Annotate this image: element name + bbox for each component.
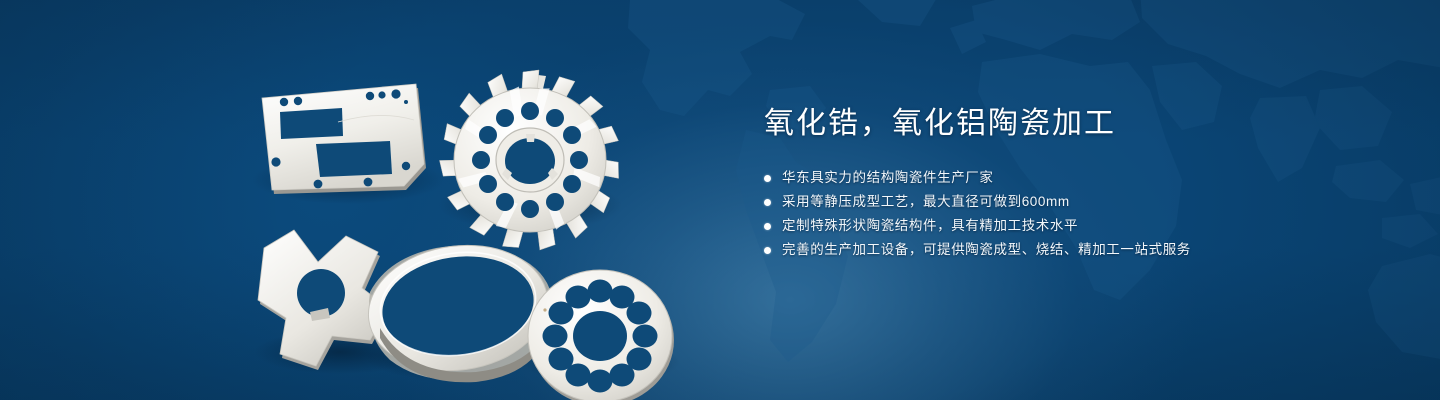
list-item: 定制特殊形状陶瓷结构件，具有精加工技术水平 [764, 214, 1404, 238]
product-photo-collage [230, 40, 700, 380]
list-item-label: 完善的生产加工设备，可提供陶瓷成型、烧结、精加工一站式服务 [782, 238, 1191, 262]
list-item: 完善的生产加工设备，可提供陶瓷成型、烧结、精加工一站式服务 [764, 238, 1404, 262]
banner-copy: 氧化锆，氧化铝陶瓷加工 华东具实力的结构陶瓷件生产厂家 采用等静压成型工艺，最大… [764, 104, 1404, 262]
page-title: 氧化锆，氧化铝陶瓷加工 [764, 104, 1404, 144]
bullet-dot-icon [764, 247, 771, 254]
bullet-dot-icon [764, 175, 771, 182]
feature-list: 华东具实力的结构陶瓷件生产厂家 采用等静压成型工艺，最大直径可做到600mm 定… [764, 166, 1404, 262]
ceramic-perforated-disc-image [528, 270, 674, 400]
bullet-dot-icon [764, 199, 771, 206]
list-item: 采用等静压成型工艺，最大直径可做到600mm [764, 190, 1404, 214]
bullet-dot-icon [764, 223, 771, 230]
list-item: 华东具实力的结构陶瓷件生产厂家 [764, 166, 1404, 190]
ceramic-machined-plate-image [262, 84, 426, 194]
hero-banner: 氧化锆，氧化铝陶瓷加工 华东具实力的结构陶瓷件生产厂家 采用等静压成型工艺，最大… [0, 0, 1440, 400]
list-item-label: 定制特殊形状陶瓷结构件，具有精加工技术水平 [782, 214, 1078, 238]
list-item-label: 采用等静压成型工艺，最大直径可做到600mm [782, 190, 1070, 214]
list-item-label: 华东具实力的结构陶瓷件生产厂家 [782, 166, 994, 190]
